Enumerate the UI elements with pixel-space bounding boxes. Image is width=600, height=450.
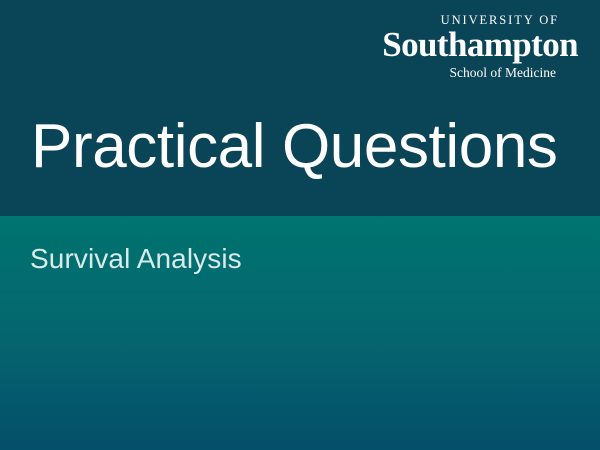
logo-wordmark: Southampton [382, 28, 578, 62]
slide-subtitle: Survival Analysis [30, 244, 242, 275]
university-logo: UNIVERSITY OF Southampton School of Medi… [382, 14, 578, 79]
logo-school-line: School of Medicine [382, 66, 556, 80]
presentation-slide: UNIVERSITY OF Southampton School of Medi… [0, 0, 600, 450]
slide-title: Practical Questions [31, 114, 558, 179]
